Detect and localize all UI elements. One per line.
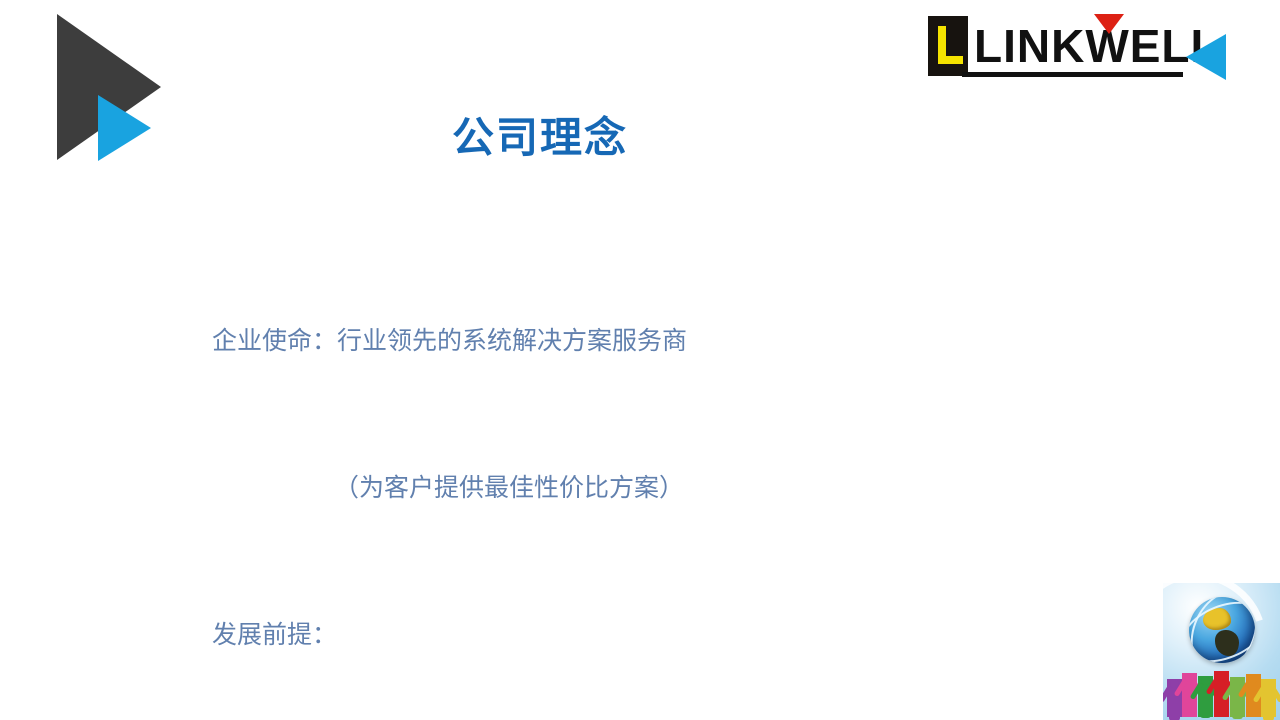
body-line-premise-heading: 发展前提：: [212, 610, 1162, 659]
logo-blue-triangle-icon: [1186, 34, 1226, 80]
logo-underline: [962, 72, 1183, 77]
logo-red-triangle-icon: [1094, 14, 1124, 34]
slide-title: 公司理念: [0, 110, 1080, 166]
globe-icon: [1189, 597, 1255, 663]
globe-with-people-image: [1163, 583, 1280, 720]
body-line-mission-sub: （为客户提供最佳性价比方案）: [212, 463, 1162, 512]
body-line-mission: 企业使命：行业领先的系统解决方案服务商: [212, 316, 1162, 365]
person-figure: [1230, 677, 1245, 717]
logo-mark-box: [928, 16, 968, 76]
person-figure: [1261, 679, 1276, 717]
slide-canvas: LINKWELL 公司理念 企业使命：行业领先的系统解决方案服务商 （为客户提供…: [0, 0, 1280, 720]
globe-orbit-ring-2: [1189, 597, 1255, 663]
slide-body: 企业使命：行业领先的系统解决方案服务商 （为客户提供最佳性价比方案） 发展前提：…: [212, 218, 1162, 720]
linkwell-logo: LINKWELL: [928, 12, 1228, 88]
logo-mark-letter-foot: [938, 56, 963, 64]
people-group: [1167, 655, 1277, 717]
